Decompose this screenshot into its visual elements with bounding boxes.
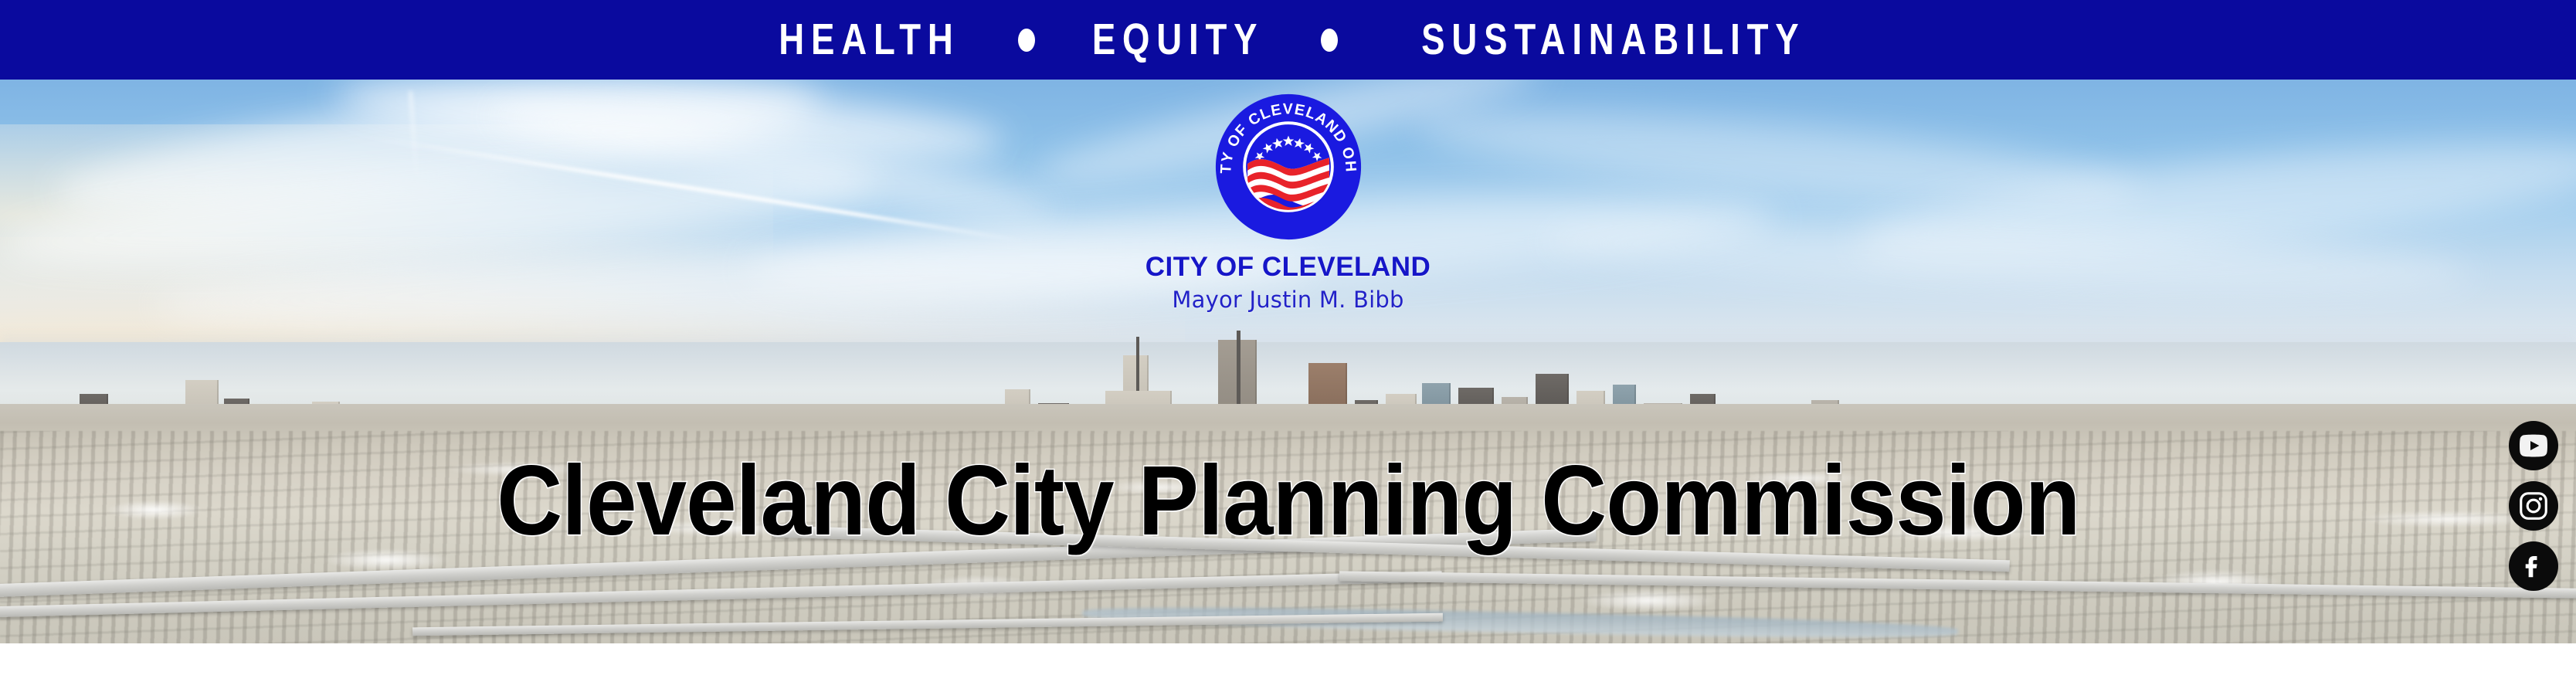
- city-logo-block: CITY OF CLEVELAND OHIO: [1072, 91, 1505, 311]
- youtube-button[interactable]: [2509, 421, 2558, 470]
- facebook-button[interactable]: [2509, 541, 2558, 591]
- instagram-icon: [2518, 490, 2549, 521]
- city-of-cleveland-seal-icon: CITY OF CLEVELAND OHIO: [1213, 91, 1364, 243]
- tagline-inner: HEALTH EQUITY SUSTAINABILITY: [756, 18, 1854, 62]
- cleveland-planning-header: HEALTH EQUITY SUSTAINABILITY: [0, 0, 2576, 682]
- tagline-dot-2-icon: [1321, 29, 1338, 52]
- facebook-icon: [2519, 551, 2548, 581]
- tagline-dot-1-icon: [1018, 29, 1035, 52]
- tagline-banner: HEALTH EQUITY SUSTAINABILITY: [0, 0, 2576, 80]
- instagram-button[interactable]: [2509, 481, 2558, 531]
- tagline-word-health: HEALTH: [779, 18, 959, 62]
- tagline-word-equity: EQUITY: [1092, 18, 1264, 62]
- footer-whitespace: [0, 643, 2576, 682]
- logo-mayor-name: Mayor Justin M. Bibb: [1072, 289, 1505, 311]
- social-media-rail: [2505, 421, 2562, 591]
- logo-city-name: CITY OF CLEVELAND: [1072, 253, 1505, 280]
- youtube-icon: [2517, 429, 2550, 462]
- tagline-word-sustainability: SUSTAINABILITY: [1421, 18, 1805, 62]
